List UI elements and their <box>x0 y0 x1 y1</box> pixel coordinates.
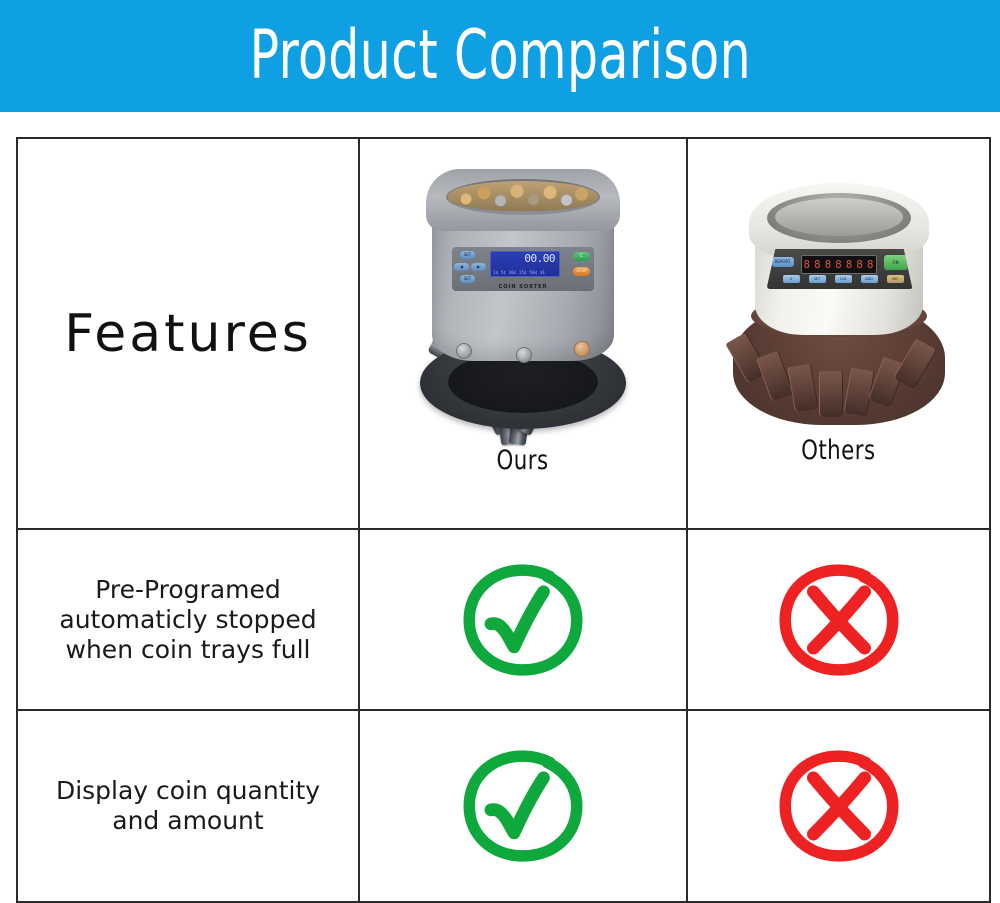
feature-2-others-cell <box>687 710 990 902</box>
small-button-1[interactable]: 0 <box>783 275 800 283</box>
control-panel: 00.00 1¢ 5¢ 10¢ 25¢ 50¢ $1 SET ◀ ▶ SET C… <box>452 247 594 291</box>
coin-cup <box>819 371 843 417</box>
panel-brand-text: COIN SORTER <box>452 284 594 290</box>
lcd-denominations: 1¢ 5¢ 10¢ 25¢ 50¢ $1 <box>493 270 545 275</box>
bowl-inner-base <box>775 198 903 236</box>
features-heading: Features <box>18 306 358 362</box>
feature-1-others-cell <box>687 529 990 710</box>
small-button-5[interactable]: MD <box>887 275 904 283</box>
comparison-table: Features <box>16 137 991 903</box>
page-title: Product Comparison <box>249 22 750 90</box>
start-button[interactable]: C <box>573 252 590 261</box>
tray-knob <box>456 343 472 359</box>
feature-2-ours-cell <box>359 710 687 902</box>
small-button-3[interactable]: CLR <box>835 275 852 283</box>
set-button-bottom[interactable]: SET <box>460 275 475 283</box>
led-digit: 8 <box>814 259 821 270</box>
feature-2-text-cell: Display coin quantity and amount <box>17 710 359 902</box>
others-label: Others <box>801 435 875 466</box>
led-digit: 8 <box>846 259 853 270</box>
tray-knob-copper <box>574 341 590 357</box>
cross-circle-icon <box>775 556 903 684</box>
others-product-image: REPORT 8 8 8 8 8 8 8 ON 0 <box>729 183 949 435</box>
feature-2-label: Display coin quantity and amount <box>18 776 358 836</box>
led-digit: 8 <box>825 259 832 270</box>
led-display: 8 8 8 8 8 8 8 <box>801 255 877 274</box>
coin-pile <box>448 181 598 211</box>
lcd-display: 00.00 1¢ 5¢ 10¢ 25¢ 50¢ $1 <box>490 251 560 277</box>
ours-product-image: 00.00 1¢ 5¢ 10¢ 25¢ 50¢ $1 SET ◀ ▶ SET C… <box>404 165 642 445</box>
led-digit: 8 <box>803 259 810 270</box>
check-circle-icon <box>459 556 587 684</box>
ours-label: Ours <box>497 445 549 476</box>
set-button-top[interactable]: SET <box>460 251 475 259</box>
feature-1-ours-cell <box>359 529 687 710</box>
cross-circle-icon <box>775 742 903 870</box>
right-arrow-button[interactable]: ▶ <box>471 263 486 271</box>
tray-knob <box>516 347 532 363</box>
control-panel: REPORT 8 8 8 8 8 8 8 ON 0 <box>767 249 913 289</box>
report-button[interactable]: REPORT <box>772 257 794 267</box>
table-row-feature-1: Pre-Programed automaticly stopped when c… <box>17 529 990 710</box>
check-circle-icon <box>459 742 587 870</box>
features-heading-cell: Features <box>17 138 359 529</box>
ours-product-cell: 00.00 1¢ 5¢ 10¢ 25¢ 50¢ $1 SET ◀ ▶ SET C… <box>359 138 687 529</box>
table-row-feature-2: Display coin quantity and amount <box>17 710 990 902</box>
table-row-products: Features <box>17 138 990 529</box>
stop-button[interactable]: STOP <box>573 267 590 276</box>
header-banner: Product Comparison <box>0 0 1000 112</box>
power-button[interactable]: ON <box>884 255 908 270</box>
others-product-cell: REPORT 8 8 8 8 8 8 8 ON 0 <box>687 138 990 529</box>
led-digit: 8 <box>835 259 842 270</box>
led-digit: 8 <box>867 259 874 270</box>
small-button-4[interactable]: ADD <box>861 275 878 283</box>
feature-1-text-cell: Pre-Programed automaticly stopped when c… <box>17 529 359 710</box>
small-button-2[interactable]: SET <box>809 275 826 283</box>
feature-1-label: Pre-Programed automaticly stopped when c… <box>18 575 358 665</box>
left-arrow-button[interactable]: ◀ <box>454 263 469 271</box>
led-digit: 8 <box>856 259 863 270</box>
lcd-value: 00.00 <box>524 253 555 265</box>
